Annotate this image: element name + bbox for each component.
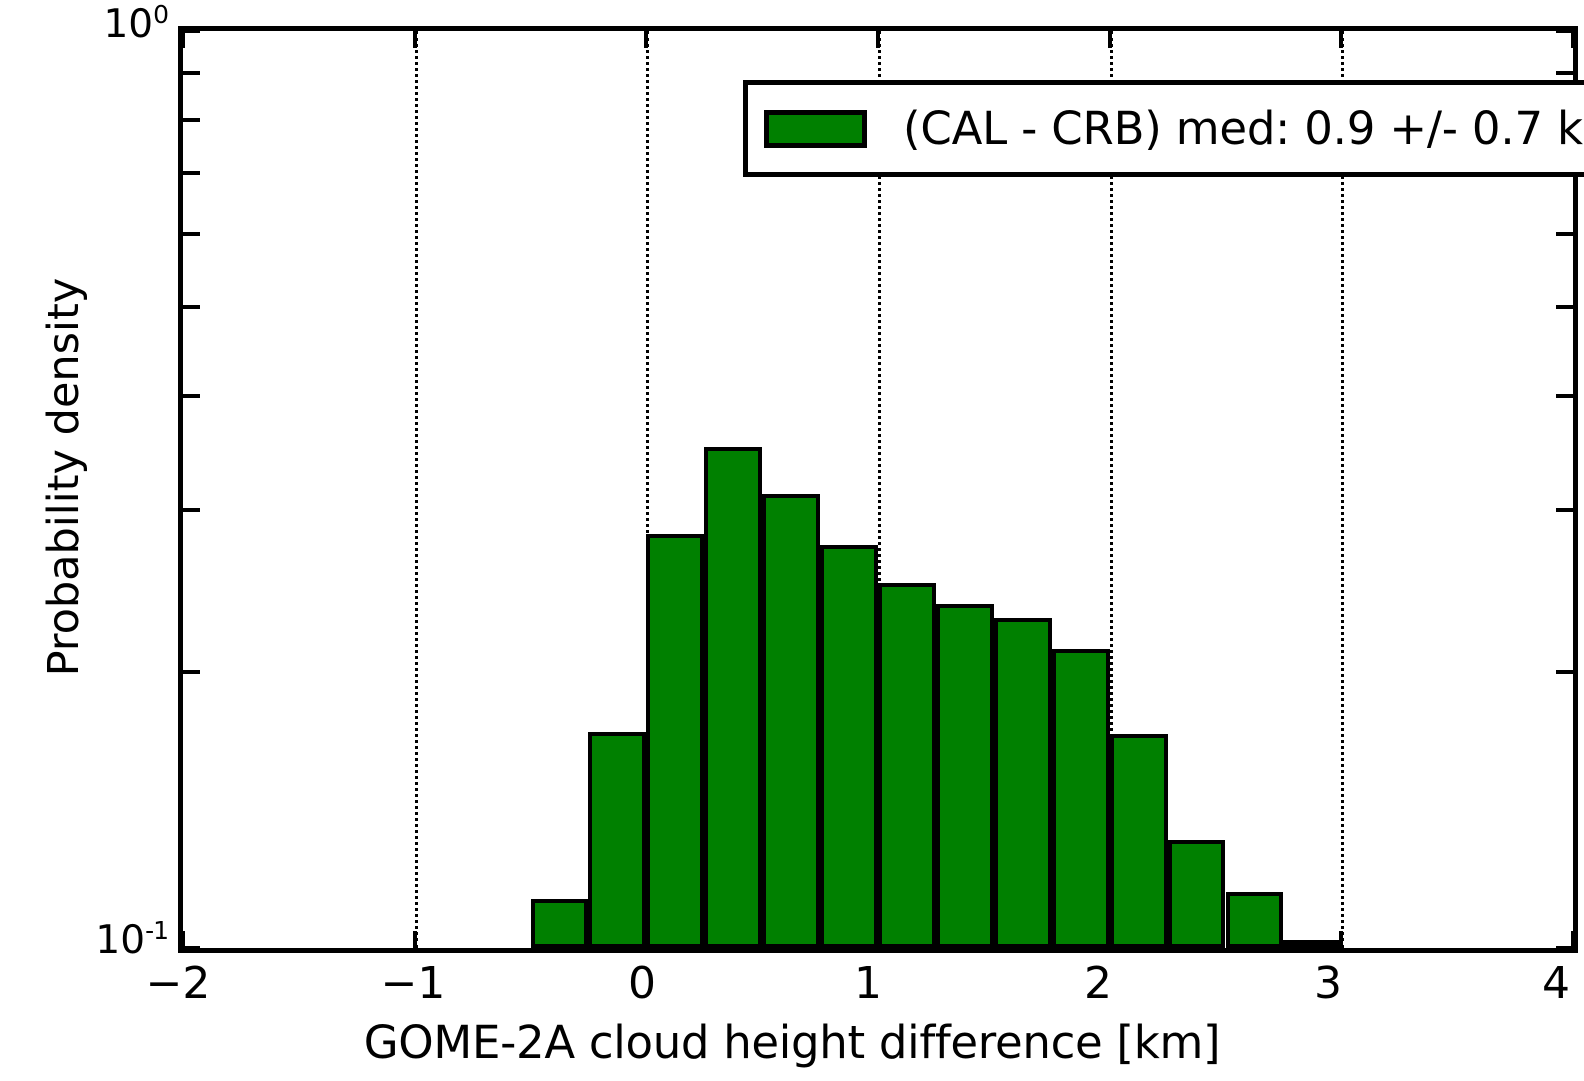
histogram-bar bbox=[820, 545, 878, 948]
x-axis-tick-label-1: −1 bbox=[363, 958, 463, 1009]
legend: (CAL - CRB) med: 0.9 +/- 0.7 km bbox=[743, 80, 1584, 177]
histogram-bar bbox=[1168, 840, 1226, 948]
y-tick bbox=[183, 171, 200, 175]
y-axis-tick-exp-top: 0 bbox=[153, 0, 168, 29]
y-axis-tick-label-top: 100 bbox=[78, 0, 168, 47]
x-axis-tick-label-0: −2 bbox=[128, 958, 228, 1009]
x-tick-top bbox=[644, 31, 648, 48]
x-tick-top bbox=[876, 31, 880, 48]
x-axis-tick-label-2: 0 bbox=[592, 958, 692, 1009]
y-axis-tick-label-bottom: 10-1 bbox=[68, 916, 168, 963]
histogram-bar bbox=[531, 899, 589, 948]
histogram-bar bbox=[588, 732, 646, 948]
y-tick bbox=[183, 305, 200, 309]
y-tick bbox=[183, 946, 200, 948]
y-tick-right bbox=[1556, 508, 1573, 512]
x-tick-bottom bbox=[644, 931, 648, 948]
y-tick bbox=[183, 394, 200, 398]
histogram-bar bbox=[1052, 649, 1110, 948]
histogram-bar bbox=[646, 534, 704, 948]
x-tick-bottom bbox=[1108, 931, 1112, 948]
y-tick-right bbox=[1556, 305, 1573, 309]
y-axis-tick-exp-bottom: -1 bbox=[145, 916, 168, 945]
histogram-bar bbox=[704, 447, 762, 948]
y-tick-right bbox=[1556, 670, 1573, 674]
y-tick-right bbox=[1556, 394, 1573, 398]
histogram-bar bbox=[994, 618, 1052, 948]
y-axis-tick-base-top: 10 bbox=[103, 2, 153, 47]
legend-swatch-green bbox=[764, 110, 867, 148]
x-axis-tick-label-6: 4 bbox=[1506, 958, 1584, 1009]
legend-label: (CAL - CRB) med: 0.9 +/- 0.7 km bbox=[903, 102, 1584, 155]
y-tick bbox=[183, 670, 200, 674]
x-tick-top bbox=[183, 31, 185, 48]
x-axis-title: GOME-2A cloud height difference [km] bbox=[0, 1016, 1584, 1069]
y-tick-right bbox=[1556, 71, 1573, 75]
y-axis-tick-base-bottom: 10 bbox=[95, 918, 145, 963]
histogram-bar bbox=[878, 583, 936, 948]
histogram-bar bbox=[1226, 892, 1284, 948]
x-tick-top bbox=[1571, 31, 1573, 48]
y-tick bbox=[183, 71, 200, 75]
y-tick-right bbox=[1556, 232, 1573, 236]
y-tick bbox=[183, 118, 200, 122]
x-axis-tick-label-3: 1 bbox=[818, 958, 918, 1009]
y-tick bbox=[183, 31, 200, 33]
x-tick-bottom bbox=[413, 931, 417, 948]
histogram-bar bbox=[1110, 734, 1168, 948]
histogram-bar bbox=[762, 494, 820, 948]
y-tick bbox=[183, 508, 200, 512]
x-tick-bottom bbox=[876, 931, 880, 948]
x-tick-top bbox=[1339, 31, 1343, 48]
y-tick bbox=[183, 232, 200, 236]
histogram-bar bbox=[936, 604, 994, 948]
x-tick-bottom bbox=[183, 931, 185, 948]
x-axis-tick-label-4: 2 bbox=[1048, 958, 1148, 1009]
x-axis-tick-label-5: 3 bbox=[1278, 958, 1378, 1009]
plot-area: (CAL - CRB) med: 0.9 +/- 0.7 km bbox=[178, 26, 1578, 953]
x-tick-bottom bbox=[1339, 931, 1343, 948]
chart-root: 100 10-1 Probability density GOME-2A clo… bbox=[0, 0, 1584, 1081]
x-tick-top bbox=[1108, 31, 1112, 48]
x-tick-bottom bbox=[1571, 931, 1573, 948]
gridline-x bbox=[415, 31, 418, 948]
y-axis-title: Probability density bbox=[39, 177, 89, 777]
x-tick-top bbox=[413, 31, 417, 48]
histogram-bar bbox=[1283, 940, 1341, 948]
